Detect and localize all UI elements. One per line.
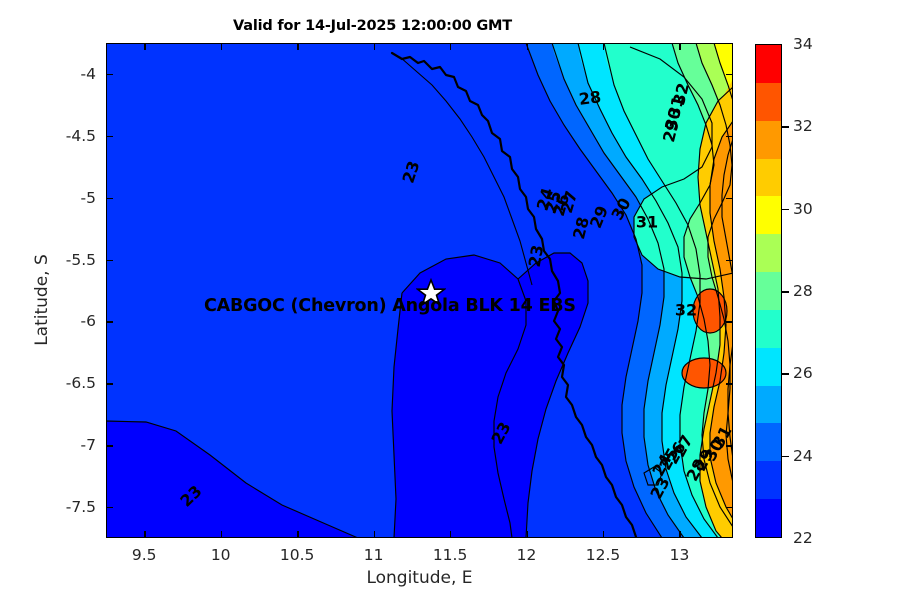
y-tick xyxy=(106,260,113,261)
figure-root: Valid for 14-Jul-2025 12:00:00 GMT xyxy=(0,0,900,600)
y-tick xyxy=(106,507,113,508)
y-tick-label: -7.5 xyxy=(30,498,96,516)
x-tick-label: 9.5 xyxy=(132,546,157,564)
y-tick-right xyxy=(726,74,733,75)
contour-label: 31 xyxy=(636,213,658,232)
x-tick-top xyxy=(144,43,145,50)
colorbar-band xyxy=(756,159,781,197)
x-tick-label: 13 xyxy=(670,546,690,564)
x-tick xyxy=(450,531,451,538)
x-tick xyxy=(374,531,375,538)
colorbar-band xyxy=(756,272,781,310)
colorbar-tick-label: 24 xyxy=(793,447,813,465)
x-tick xyxy=(297,531,298,538)
colorbar-tick xyxy=(782,126,789,128)
y-axis-title: Latitude, S xyxy=(32,180,52,420)
y-tick xyxy=(106,445,113,446)
colorbar-tick xyxy=(782,291,789,293)
colorbar-tick-label: 26 xyxy=(793,364,813,382)
y-tick-right xyxy=(726,260,733,261)
colorbar[interactable] xyxy=(755,44,782,538)
x-tick-label: 12 xyxy=(517,546,537,564)
colorbar-band xyxy=(756,234,781,272)
colorbar-band xyxy=(756,196,781,234)
colorbar-band xyxy=(756,121,781,159)
y-tick xyxy=(106,321,113,322)
x-tick-top xyxy=(297,43,298,50)
colorbar-band xyxy=(756,386,781,424)
colorbar-band xyxy=(756,499,781,537)
contour-label: 23 xyxy=(525,243,548,268)
y-tick-right xyxy=(726,321,733,322)
x-tick-top xyxy=(679,43,680,50)
x-tick xyxy=(679,531,680,538)
contour-plot-area xyxy=(106,43,733,538)
y-tick-right xyxy=(726,445,733,446)
y-tick-label: -4 xyxy=(30,65,96,83)
figure-title: Valid for 14-Jul-2025 12:00:00 GMT xyxy=(0,18,745,34)
colorbar-tick-label: 22 xyxy=(793,529,813,547)
colorbar-band xyxy=(756,423,781,461)
colorbar-tick-label: 32 xyxy=(793,117,813,135)
y-tick-right xyxy=(726,507,733,508)
y-tick xyxy=(106,136,113,137)
y-tick xyxy=(106,74,113,75)
colorbar-tick-label: 30 xyxy=(793,200,813,218)
y-tick-right xyxy=(726,136,733,137)
y-tick xyxy=(106,198,113,199)
x-tick-top xyxy=(450,43,451,50)
contour-label: 28 xyxy=(578,87,602,109)
colorbar-band xyxy=(756,310,781,348)
x-axis-title: Longitude, E xyxy=(106,568,733,588)
y-tick-label: -4.5 xyxy=(30,127,96,145)
colorbar-band xyxy=(756,83,781,121)
y-tick-right xyxy=(726,383,733,384)
colorbar-tick-label: 34 xyxy=(793,35,813,53)
y-tick xyxy=(106,383,113,384)
x-tick xyxy=(221,531,222,538)
colorbar-tick xyxy=(782,373,789,375)
y-tick-right xyxy=(726,198,733,199)
x-tick xyxy=(144,531,145,538)
x-tick-label: 10.5 xyxy=(280,546,315,564)
x-tick-top xyxy=(221,43,222,50)
colorbar-band xyxy=(756,45,781,83)
colorbar-tick-label: 28 xyxy=(793,282,813,300)
x-tick-label: 12.5 xyxy=(586,546,621,564)
contour-label: 32 xyxy=(675,301,697,320)
y-tick-label: -7 xyxy=(30,436,96,454)
x-tick-label: 10 xyxy=(211,546,231,564)
x-tick-top xyxy=(374,43,375,50)
x-tick xyxy=(527,531,528,538)
x-tick-label: 11 xyxy=(364,546,384,564)
x-tick-top xyxy=(527,43,528,50)
colorbar-tick xyxy=(782,456,789,458)
x-tick xyxy=(603,531,604,538)
x-tick-top xyxy=(603,43,604,50)
x-tick-label: 11.5 xyxy=(433,546,468,564)
colorbar-band xyxy=(756,461,781,499)
site-label: CABGOC (Chevron) Angola BLK 14 EBS xyxy=(204,296,576,316)
colorbar-tick xyxy=(782,209,789,211)
colorbar-band xyxy=(756,348,781,386)
